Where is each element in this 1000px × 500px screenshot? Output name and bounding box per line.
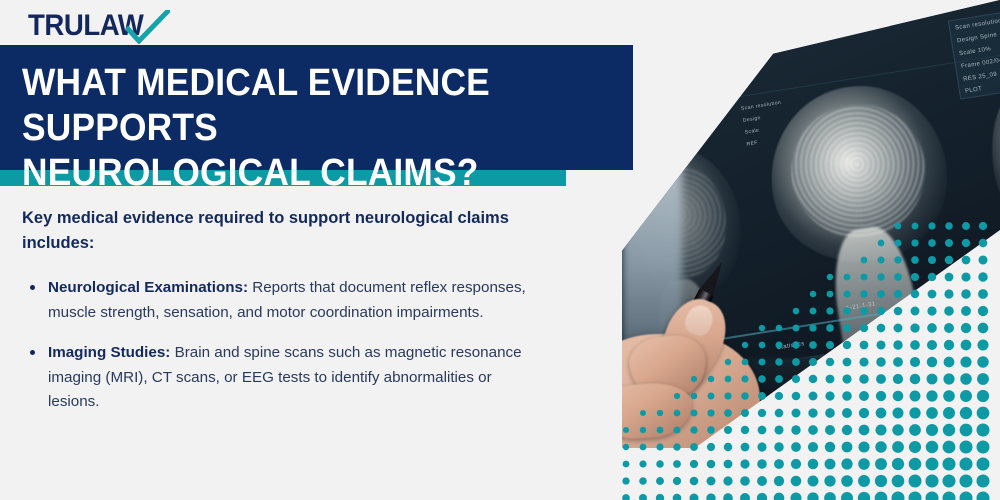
title-banner: WHAT MEDICAL EVIDENCE SUPPORTS NEUROLOGI… xyxy=(0,45,633,170)
list-item: Neurological Examinations: Reports that … xyxy=(22,276,547,325)
list-item-term: Imaging Studies: xyxy=(48,344,170,361)
list-item-term: Neurological Examinations: xyxy=(48,279,248,296)
infographic-card: TRULAW WHAT MEDICAL EVIDENCE SUPPORTS NE… xyxy=(0,0,1000,500)
bullet-dot-icon xyxy=(30,350,35,355)
photo-bottom-strip xyxy=(622,448,1000,500)
intro-paragraph: Key medical evidence required to support… xyxy=(22,206,567,256)
bullet-dot-icon xyxy=(30,285,35,290)
list-item: Imaging Studies: Brain and spine scans s… xyxy=(22,341,547,415)
screen-study-id: RTS-03 xyxy=(748,32,772,42)
checkmark-icon xyxy=(126,10,170,44)
page-title: WHAT MEDICAL EVIDENCE SUPPORTS NEUROLOGI… xyxy=(22,61,580,196)
evidence-list: Neurological Examinations: Reports that … xyxy=(22,276,582,415)
content-column: Key medical evidence required to support… xyxy=(22,206,582,431)
trulaw-logo[interactable]: TRULAW xyxy=(28,8,178,44)
